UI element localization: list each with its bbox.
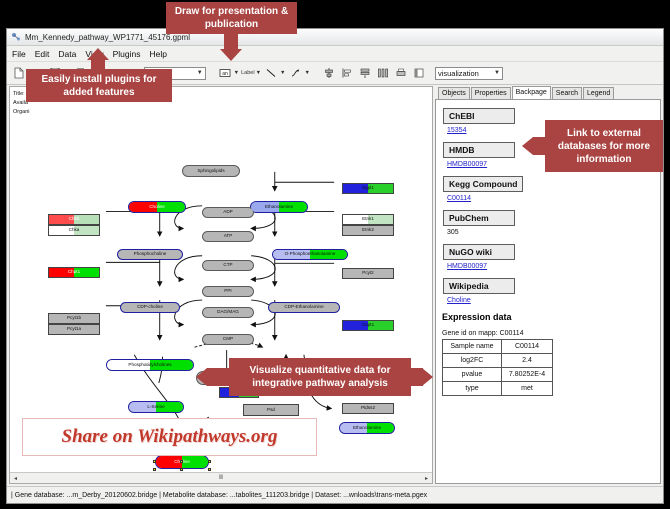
db-section-kegg: Kegg Compound C00114 — [443, 174, 660, 202]
expr-val-pvalue: 7.80252E-4 — [502, 368, 553, 382]
gene-node-sgpl1[interactable]: Sgpl1 — [342, 183, 394, 194]
callout-visualize-arrow-right-icon — [422, 368, 433, 386]
interaction-tool[interactable]: ▼ — [288, 65, 310, 81]
selection-handle[interactable] — [208, 460, 211, 463]
node-label: Ethanolamine — [353, 426, 381, 431]
callout-visualize-right-stem — [409, 368, 423, 386]
db-header-nugo-wiki: NuGO wiki — [443, 244, 515, 260]
node-label: CDP-Ethanolamine — [284, 305, 323, 310]
gene-node-psd[interactable]: Psd — [243, 404, 299, 416]
node-label: Chkb — [69, 217, 80, 222]
pathvisio-icon — [11, 32, 21, 42]
share-text: Share on Wikipathways.org — [62, 426, 278, 448]
node-label: Phosphocholine — [134, 252, 167, 257]
node-label: Phosphatidylcholines — [128, 363, 171, 368]
selection-handle[interactable] — [180, 460, 183, 463]
gene-node-ptdss2[interactable]: Ptdss2 — [342, 403, 394, 414]
metabolite-node-ethanolamine[interactable]: Ethanolamine — [339, 422, 395, 434]
chevron-down-icon[interactable]: ▼ — [234, 70, 239, 76]
node-label: ATP — [224, 234, 233, 239]
node-label: Cept1 — [362, 323, 374, 328]
chevron-down-icon[interactable]: ▼ — [256, 70, 261, 76]
metabolite-node-ppi[interactable]: PPI — [202, 286, 254, 297]
menu-item-data[interactable]: Data — [58, 49, 76, 59]
stack-icon[interactable] — [357, 65, 373, 81]
print-icon[interactable] — [393, 65, 409, 81]
metabolite-node-phosphatidylcholines[interactable]: Phosphatidylcholines — [106, 359, 194, 371]
gene-node-chkb[interactable]: Chkb — [48, 214, 100, 225]
expr-key-type: type — [443, 382, 502, 396]
metabolite-node-dag-mag[interactable]: DAG/MAG — [202, 307, 254, 318]
table-row: log2FC 2.4 — [443, 354, 553, 368]
callout-plugins-stem — [91, 60, 105, 72]
tab-search[interactable]: Search — [552, 87, 582, 99]
db-header-pubchem: PubChem — [443, 210, 515, 226]
datanode-icon[interactable]: an — [217, 65, 233, 81]
gene-node-chpt1[interactable]: Chpt1 — [48, 267, 100, 278]
callout-plugins-arrow-up-icon — [87, 48, 109, 60]
callout-draw-arrow-down-icon — [220, 49, 242, 61]
selection-handle[interactable] — [153, 468, 156, 471]
node-label: Sphingolipids — [197, 169, 224, 174]
node-label: Sgpl1 — [362, 186, 374, 191]
gene-node-chka[interactable]: Chka — [48, 225, 100, 236]
interaction-icon[interactable] — [288, 65, 304, 81]
expr-key-pvalue: pvalue — [443, 368, 502, 382]
metabolite-node-o-phosphoethanolamine[interactable]: O-Phosphoethanolamine — [272, 249, 348, 260]
node-label: Chka — [69, 228, 80, 233]
menu-item-help[interactable]: Help — [150, 49, 167, 59]
gene-node-cept1[interactable]: Cept1 — [342, 320, 394, 331]
gene-node-etnk2[interactable]: Etnk2 — [342, 225, 394, 236]
canvas-horizontal-scrollbar[interactable]: ◂ ‖‖ ▸ — [10, 472, 432, 483]
metabolite-node-cdp-choline[interactable]: CDP-choline — [120, 302, 180, 313]
chevron-down-icon[interactable]: ▼ — [305, 70, 310, 76]
metabolite-node-sphingolipids[interactable]: Sphingolipids — [182, 165, 240, 177]
node-label: Psd — [267, 408, 275, 413]
export-icon[interactable] — [411, 65, 427, 81]
visualization-combobox[interactable]: visualization ▼ — [435, 67, 503, 80]
chevron-down-icon: ▼ — [494, 70, 500, 76]
datanode-tool[interactable]: an ▼ — [217, 65, 239, 81]
table-row: Sample name C00114 — [443, 340, 553, 354]
callout-visualize-arrow-left-icon — [196, 368, 207, 386]
table-row: type met — [443, 382, 553, 396]
node-label: DAG/MAG — [217, 310, 239, 315]
gene-id-on-mapp: Gene id on mapp: C00114 — [442, 330, 660, 337]
expr-key-log2fc: log2FC — [443, 354, 502, 368]
expression-data-heading: Expression data — [442, 312, 660, 322]
db-section-nugo-wiki: NuGO wiki HMDB00097 — [443, 242, 660, 270]
chevron-down-icon: ▼ — [197, 70, 203, 76]
node-label: CTP — [223, 263, 232, 268]
table-row: pvalue 7.80252E-4 — [443, 368, 553, 382]
db-header-chebi: ChEBI — [443, 108, 515, 124]
status-bar: | Gene database: ...m_Derby_20120602.bri… — [7, 486, 663, 503]
scroll-grip-icon[interactable]: ‖‖ — [219, 475, 224, 481]
selection-handle[interactable] — [208, 468, 211, 471]
node-label: Etnk1 — [362, 217, 374, 222]
node-label: Pcyt1a — [67, 327, 81, 332]
gene-node-pcyt1a[interactable]: Pcyt1a — [48, 324, 100, 335]
db-section-wikipedia: Wikipedia Choline — [443, 276, 660, 304]
line-tool[interactable]: ▼ — [263, 65, 285, 81]
node-label: PPI — [224, 289, 231, 294]
expr-val-type: met — [502, 382, 553, 396]
node-label: CDP-choline — [137, 305, 163, 310]
tab-legend[interactable]: Legend — [583, 87, 614, 99]
callout-visualize-quantitative-data: Visualize quantitative data for integrat… — [229, 358, 411, 396]
node-label: Chpt1 — [68, 270, 80, 275]
db-header-wikipedia: Wikipedia — [443, 278, 515, 294]
align-center-icon[interactable] — [321, 65, 337, 81]
node-label: Ethanolamine — [265, 205, 293, 210]
callout-link-arrow-left-icon — [522, 137, 533, 155]
scroll-left-arrow-icon[interactable]: ◂ — [11, 475, 20, 482]
callout-visualize-left-stem — [207, 368, 231, 386]
side-panel-tabstrip: Objects Properties Backpage Search Legen… — [435, 86, 661, 99]
node-label: Ptdss2 — [361, 406, 375, 411]
gene-node-pcyt2[interactable]: Pcyt2 — [342, 268, 394, 279]
node-label: O-Phosphoethanolamine — [285, 252, 336, 257]
node-label: Pcyt1b — [67, 316, 81, 321]
callout-link-stem — [533, 137, 547, 155]
menu-item-plugins[interactable]: Plugins — [113, 49, 141, 59]
tab-properties[interactable]: Properties — [471, 87, 511, 99]
selection-handle[interactable] — [180, 468, 183, 471]
tab-objects[interactable]: Objects — [438, 87, 470, 99]
metabolite-node-choline[interactable]: Choline — [128, 201, 186, 213]
gene-node-pcyt1b[interactable]: Pcyt1b — [48, 313, 100, 324]
label-tool-caption: Label — [241, 70, 254, 76]
callout-install-plugins: Easily install plugins for added feature… — [26, 69, 172, 102]
new-file-icon[interactable] — [11, 65, 27, 81]
visualization-value: visualization — [438, 69, 479, 78]
menu-item-file[interactable]: File — [12, 49, 26, 59]
node-label: Choline — [149, 205, 165, 210]
metabolite-node-atp[interactable]: ATP — [202, 231, 254, 242]
db-value-pubchem: 305 — [447, 229, 660, 236]
metabolite-node-adp[interactable]: ADP — [202, 207, 254, 218]
db-link-nugo-wiki[interactable]: HMDB00097 — [447, 263, 660, 270]
expr-val-sample-name: C00114 — [502, 340, 553, 354]
db-section-pubchem: PubChem 305 — [443, 208, 660, 236]
metabolite-node-cdp-ethanolamine[interactable]: CDP-Ethanolamine — [268, 302, 340, 313]
selection-handle[interactable] — [153, 460, 156, 463]
expr-key-sample-name: Sample name — [443, 340, 502, 354]
db-header-hmdb: HMDB — [443, 142, 515, 158]
line-icon[interactable] — [263, 65, 279, 81]
callout-draw-for-presentation: Draw for presentation & publication — [166, 2, 297, 34]
db-link-kegg-compound[interactable]: C00114 — [447, 195, 660, 202]
node-label: Pcyt2 — [362, 271, 374, 276]
db-header-kegg-compound: Kegg Compound — [443, 176, 523, 192]
window-titlebar: Mm_Kennedy_pathway_WP1771_45176.gpml — [7, 29, 663, 46]
node-label: CMP — [223, 337, 233, 342]
metabolite-node-ctp[interactable]: CTP — [202, 260, 254, 271]
metabolite-node-ethanolamine[interactable]: Ethanolamine — [250, 201, 308, 213]
distribute-icon[interactable] — [375, 65, 391, 81]
menu-item-edit[interactable]: Edit — [35, 49, 50, 59]
callout-draw-stem — [224, 34, 238, 50]
expr-val-log2fc: 2.4 — [502, 354, 553, 368]
node-label: L-Serine — [147, 405, 164, 410]
metabolite-node-phosphocholine[interactable]: Phosphocholine — [117, 249, 183, 260]
expression-data-table: Sample name C00114 log2FC 2.4 pvalue 7.8… — [442, 339, 553, 396]
chevron-down-icon[interactable]: ▼ — [280, 70, 285, 76]
tab-backpage[interactable]: Backpage — [512, 86, 551, 99]
metabolite-node-cmp[interactable]: CMP — [202, 334, 254, 345]
node-label: Etnk2 — [362, 228, 374, 233]
node-label: ADP — [223, 210, 232, 215]
callout-share-wikipathways: Share on Wikipathways.org — [22, 418, 317, 456]
screenshot-root: Mm_Kennedy_pathway_WP1771_45176.gpml Fil… — [0, 0, 670, 509]
gene-node-etnk1[interactable]: Etnk1 — [342, 214, 394, 225]
callout-link-external-databases: Link to external databases for more info… — [545, 120, 663, 172]
db-link-wikipedia[interactable]: Choline — [447, 297, 660, 304]
metabolite-node-l-serine[interactable]: L-Serine — [128, 401, 184, 413]
align-left-icon[interactable] — [339, 65, 355, 81]
svg-text:an: an — [222, 71, 228, 77]
status-bar-text: | Gene database: ...m_Derby_20120602.bri… — [7, 492, 427, 499]
label-tool[interactable]: Label ▼ — [241, 70, 261, 76]
scroll-right-arrow-icon[interactable]: ▸ — [422, 475, 431, 482]
